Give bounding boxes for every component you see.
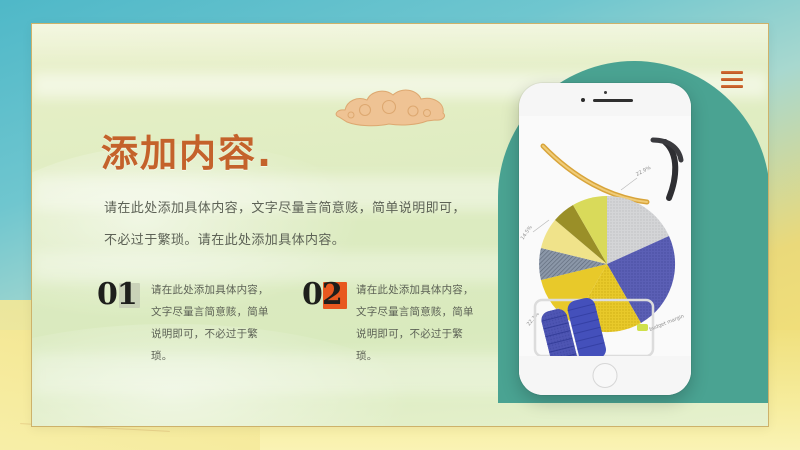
phone-sensor-icon <box>604 91 607 94</box>
lead-paragraph: 请在此处添加具体内容，文字尽量言简意赅，简单说明即可，不必过于繁琐。请在此处添加… <box>104 193 476 257</box>
phone-screen[interactable]: 22.9% 14.5% 22.3% <box>519 116 691 356</box>
page-title: 添加内容. <box>101 123 273 177</box>
hamburger-bar <box>721 71 743 74</box>
item-number: 02 <box>302 279 342 311</box>
slide-card: 添加内容. 请在此处添加具体内容，文字尽量言简意赅，简单说明即可，不必过于繁琐。… <box>31 23 769 427</box>
hamburger-bar <box>721 85 743 88</box>
list-item[interactable]: 02 请在此处添加具体内容，文字尽量言简意赅，简单说明即可，不必过于繁琐。 <box>302 279 477 367</box>
phone-bottom-bezel <box>519 356 691 395</box>
numbered-items-list: 01 请在此处添加具体内容，文字尽量言简意赅，简单说明即可，不必过于繁琐。 02… <box>97 279 487 367</box>
phone-speaker-slot <box>593 99 633 102</box>
hamburger-menu-icon[interactable] <box>721 71 743 88</box>
item-text: 请在此处添加具体内容，文字尽量言简意赅，简单说明即可，不必过于繁琐。 <box>151 279 272 367</box>
phone-camera-icon <box>581 98 585 102</box>
list-item[interactable]: 01 请在此处添加具体内容，文字尽量言简意赅，简单说明即可，不必过于繁琐。 <box>97 279 272 367</box>
hamburger-bar <box>721 78 743 81</box>
item-number: 01 <box>97 279 137 311</box>
smartphone-mockup: 22.9% 14.5% 22.3% <box>519 83 691 395</box>
item-text: 请在此处添加具体内容，文字尽量言简意赅，简单说明即可，不必过于繁琐。 <box>356 279 477 367</box>
auspicious-cloud-icon <box>331 83 451 131</box>
phone-home-button[interactable] <box>593 363 618 388</box>
item-number-wrap: 01 <box>97 279 142 313</box>
phone-top-bezel <box>519 83 691 116</box>
item-number-wrap: 02 <box>302 279 347 313</box>
